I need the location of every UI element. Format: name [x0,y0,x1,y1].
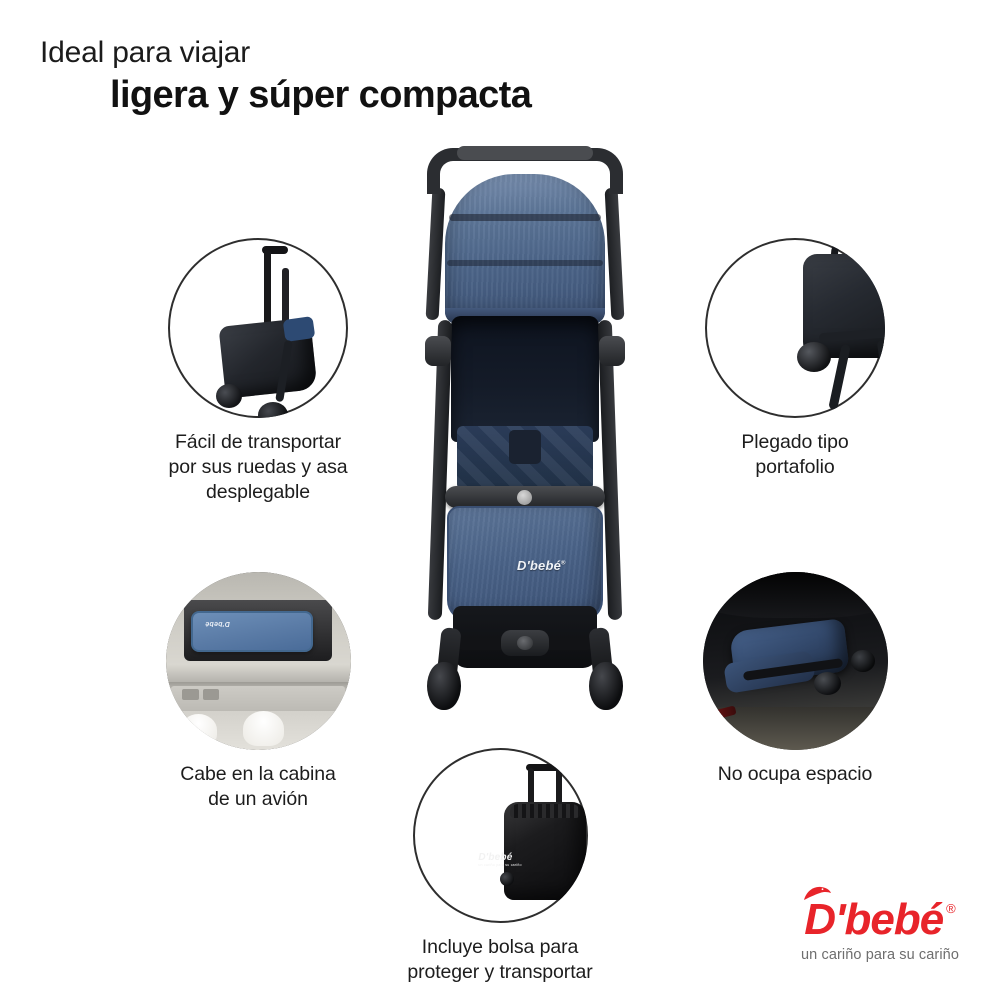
bag-brand-tagline: un cariño para su cariño [478,863,521,867]
brand-name: D'bebé [804,898,943,942]
stroller-harness [509,430,541,464]
stroller-canopy [445,174,605,324]
stroller-seat [451,316,599,442]
caption-line: portafolio [640,455,950,480]
stroller-frame-arm-right [605,188,625,320]
page-title: Ideal para viajar ligera y súper compact… [40,36,531,118]
feature-portfolio-circle [705,238,885,418]
brand-logo-mark: D'bebé ® [780,898,980,942]
feature-cabin-photo: D'bebé [166,572,351,750]
bag-brand-logo: D'bebé un cariño para su cariño [478,852,521,867]
stroller-wheel-right [589,662,623,710]
caption-line: Plegado tipo [640,430,950,455]
feature-trunk-circle [703,572,888,750]
feature-trunk-caption: No ocupa espacio [640,762,950,787]
feature-bag-caption: Incluye bolsa para proteger y transporta… [350,935,650,985]
feature-cabin-circle: D'bebé [166,572,351,750]
bag-brand-name: D'bebé [478,852,512,863]
caption-line: No ocupa espacio [640,762,950,787]
product-footrest-logo-mark: ® [561,561,566,567]
bird-icon [802,885,832,901]
registered-trademark-symbol: ® [946,902,956,915]
feature-portfolio-caption: Plegado tipo portafolio [640,430,950,480]
brand-name-text: D'bebé [804,895,943,944]
product-hero-image: D'bebé® [405,140,645,720]
feature-trolley-circle [168,238,348,418]
headline-line-2: ligera y súper compacta [110,73,531,119]
stroller-frame-arm-left [426,188,446,320]
feature-bag-circle: D'bebé un cariño para su cariño [413,748,588,923]
headline-line-1: Ideal para viajar [40,36,531,71]
feature-trolley: Fácil de transportar por sus ruedas y as… [103,238,413,505]
caption-line: Fácil de transportar [103,430,413,455]
feature-bag-photo: D'bebé un cariño para su cariño [413,748,588,923]
caption-line: desplegable [103,480,413,505]
product-footrest-logo-text: D'bebé [517,558,561,573]
stroller-bag-in-bin: D'bebé [191,611,313,652]
caption-line: proteger y transportar [350,960,650,985]
bag-logo-text: D'bebé [205,620,230,627]
stroller-hinge-right [599,336,625,366]
feature-trunk-photo [703,572,888,750]
caption-line: Incluye bolsa para [350,935,650,960]
feature-trunk: No ocupa espacio [640,572,950,787]
brand-logo: D'bebé ® un cariño para su cariño [780,898,980,963]
feature-bag: D'bebé un cariño para su cariño Incluye … [350,748,650,985]
stroller-hinge-left [425,336,451,366]
feature-portfolio-photo [705,238,885,418]
stroller-wheel-left [427,662,461,710]
brand-tagline: un cariño para su cariño [780,947,980,963]
caption-line: por sus ruedas y asa [103,455,413,480]
bumper-release-button [517,490,532,505]
product-footrest-logo: D'bebé® [517,558,566,573]
feature-trolley-caption: Fácil de transportar por sus ruedas y as… [103,430,413,505]
feature-portfolio: Plegado tipo portafolio [640,238,950,480]
feature-trolley-photo [168,238,348,418]
